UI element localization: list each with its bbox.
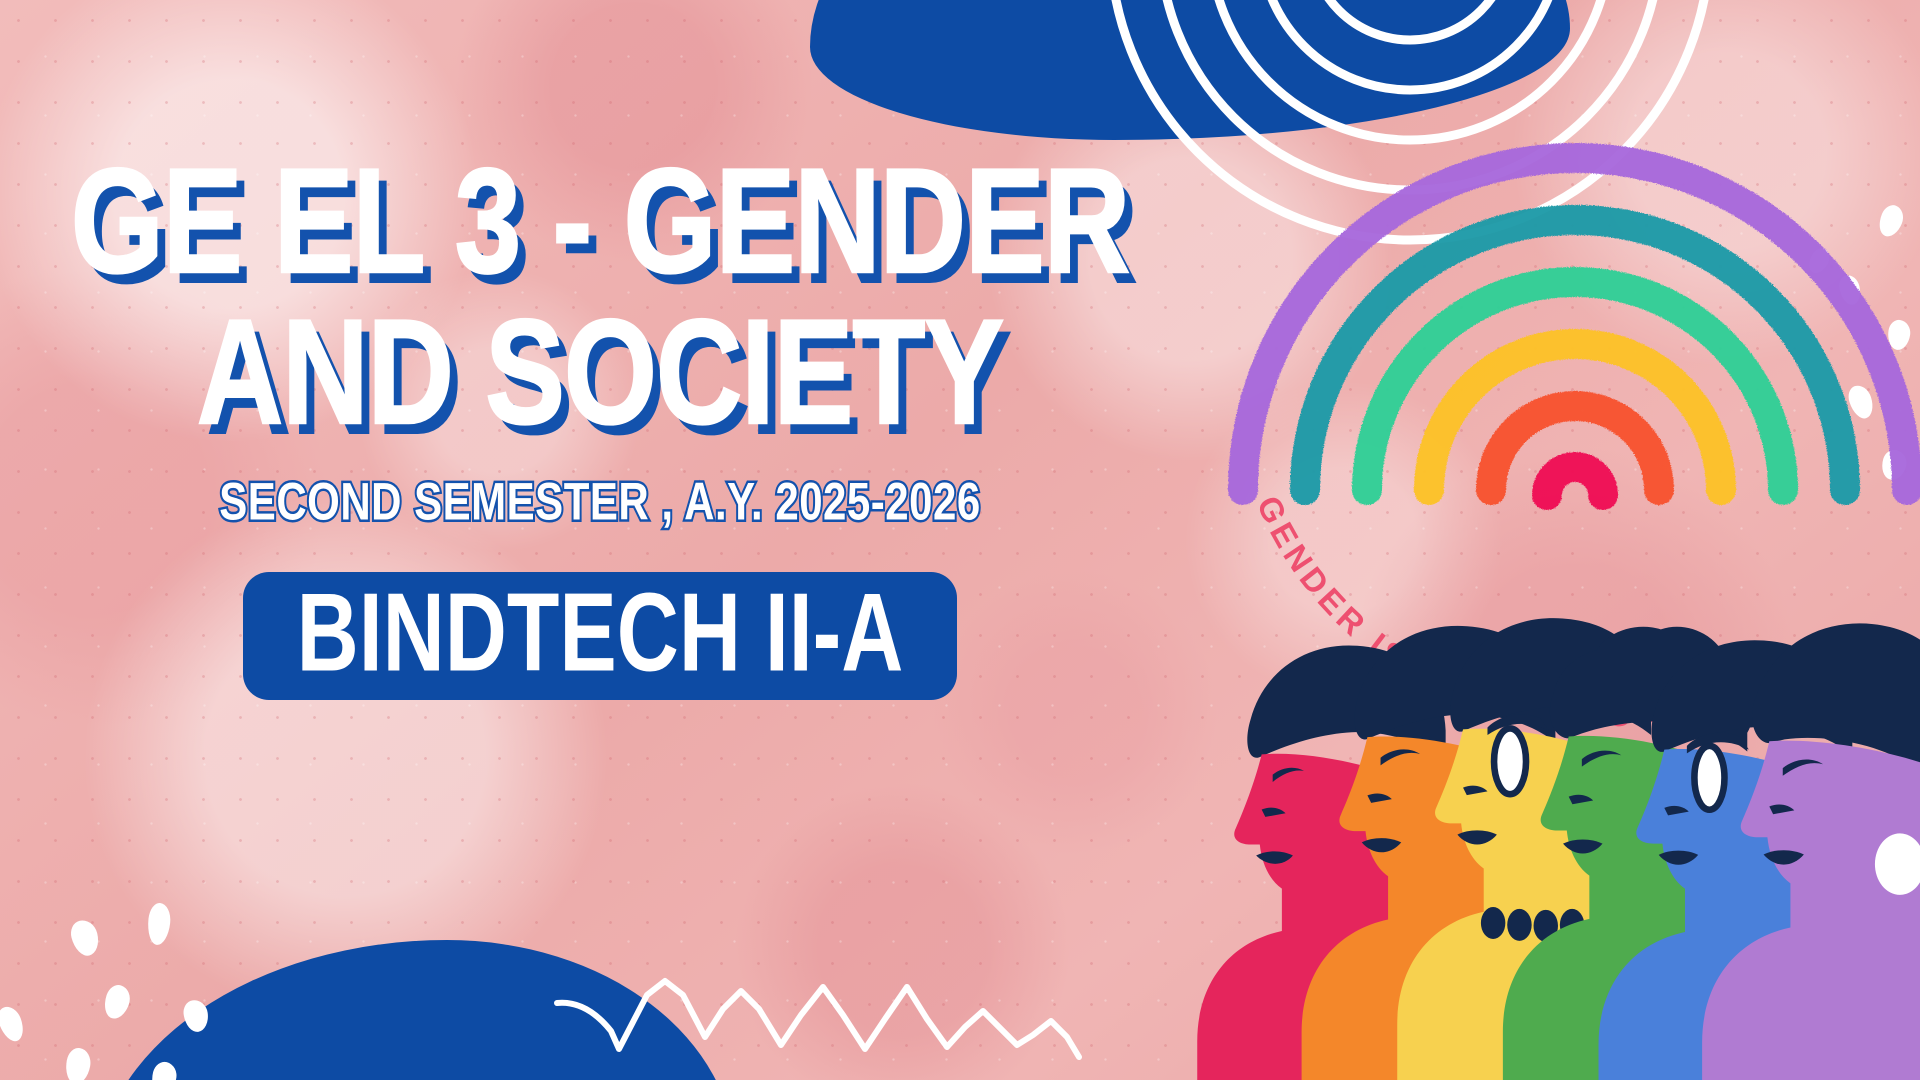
class-badge: BINDTECH II-A xyxy=(243,572,958,700)
semester-subtitle: SECOND SEMESTER , A.Y. 2025-2026 xyxy=(60,472,1140,532)
people-profiles-illustration xyxy=(1165,555,1920,1080)
course-title-line-1: GE EL 3 - GENDER xyxy=(71,150,1129,293)
course-title-line-2: AND SOCIETY xyxy=(71,301,1129,444)
rainbow-illustration: GENDER IS A SPECTRUM xyxy=(1225,70,1920,540)
poster-canvas: GENDER IS A SPECTRUM xyxy=(0,0,1920,1080)
headline-block: GE EL 3 - GENDER AND SOCIETY SECOND SEME… xyxy=(60,150,1140,700)
class-badge-label: BINDTECH II-A xyxy=(297,577,904,689)
